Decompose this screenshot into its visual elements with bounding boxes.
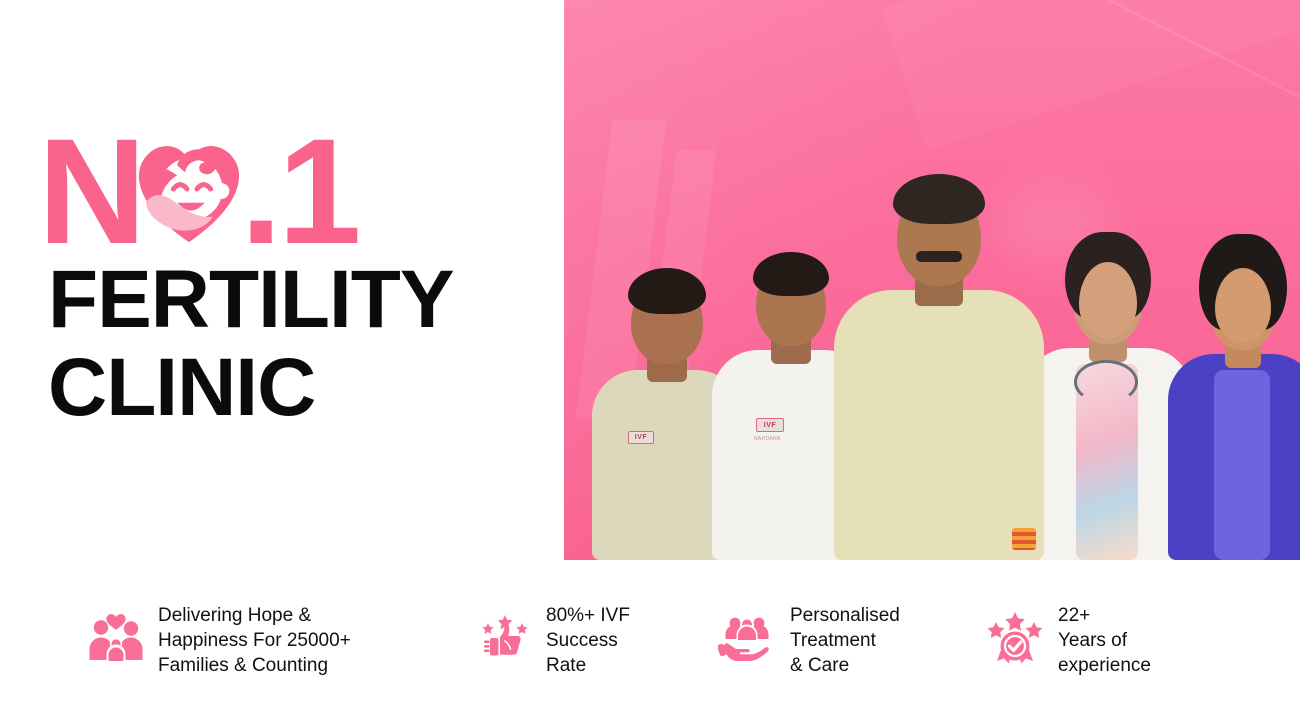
hero-photo: IVF IVF NARDANA (564, 0, 1300, 560)
headline-fertility: FERTILITY (48, 259, 564, 341)
uniform-badge: IVF (756, 418, 784, 432)
hair (753, 252, 829, 296)
staff-group: IVF IVF NARDANA (564, 140, 1300, 560)
hair (628, 268, 706, 314)
hair (893, 174, 985, 224)
feature-item-success-rate: 80%+ IVF Success Rate (478, 603, 630, 678)
feature-label: Personalised Treatment & Care (790, 603, 900, 678)
headline-letter-n: N (38, 128, 140, 254)
stethoscope-icon (1074, 360, 1138, 404)
uniform-badge-subtext: NARDANA (754, 436, 781, 442)
award-badge-check-icon (986, 610, 1044, 671)
staff-member-5 (1168, 230, 1300, 560)
face (1215, 268, 1271, 342)
feature-label: 80%+ IVF Success Rate (546, 603, 630, 678)
feature-label: Delivering Hope & Happiness For 25000+ F… (158, 603, 351, 678)
fertility-clinic-banner: N (0, 0, 1300, 720)
feature-item-families: Delivering Hope & Happiness For 25000+ F… (88, 603, 351, 678)
staff-member-4 (1024, 220, 1192, 560)
baby-in-heart-logo-icon (130, 132, 248, 250)
uniform-badge: IVF (628, 431, 654, 444)
headline-dot-one: .1 (240, 128, 357, 254)
thumbs-up-stars-icon (478, 611, 532, 670)
inner-top (1214, 370, 1270, 560)
hand-holding-people-icon (718, 613, 776, 668)
wrist-bangles (1012, 528, 1036, 550)
feature-label: 22+ Years of experience (1058, 603, 1151, 678)
no1-lockup: N (38, 128, 564, 253)
feature-item-personalised-care: Personalised Treatment & Care (718, 603, 900, 678)
staff-member-3-lead-doctor (834, 140, 1044, 560)
moustache (916, 251, 962, 262)
headline-panel: N (0, 0, 564, 560)
headline-clinic: CLINIC (48, 345, 564, 431)
family-heart-icon (88, 612, 144, 669)
features-bar: Delivering Hope & Happiness For 25000+ F… (0, 560, 1300, 720)
torso (834, 290, 1044, 560)
feature-item-experience: 22+ Years of experience (986, 603, 1151, 678)
face (1079, 262, 1137, 338)
